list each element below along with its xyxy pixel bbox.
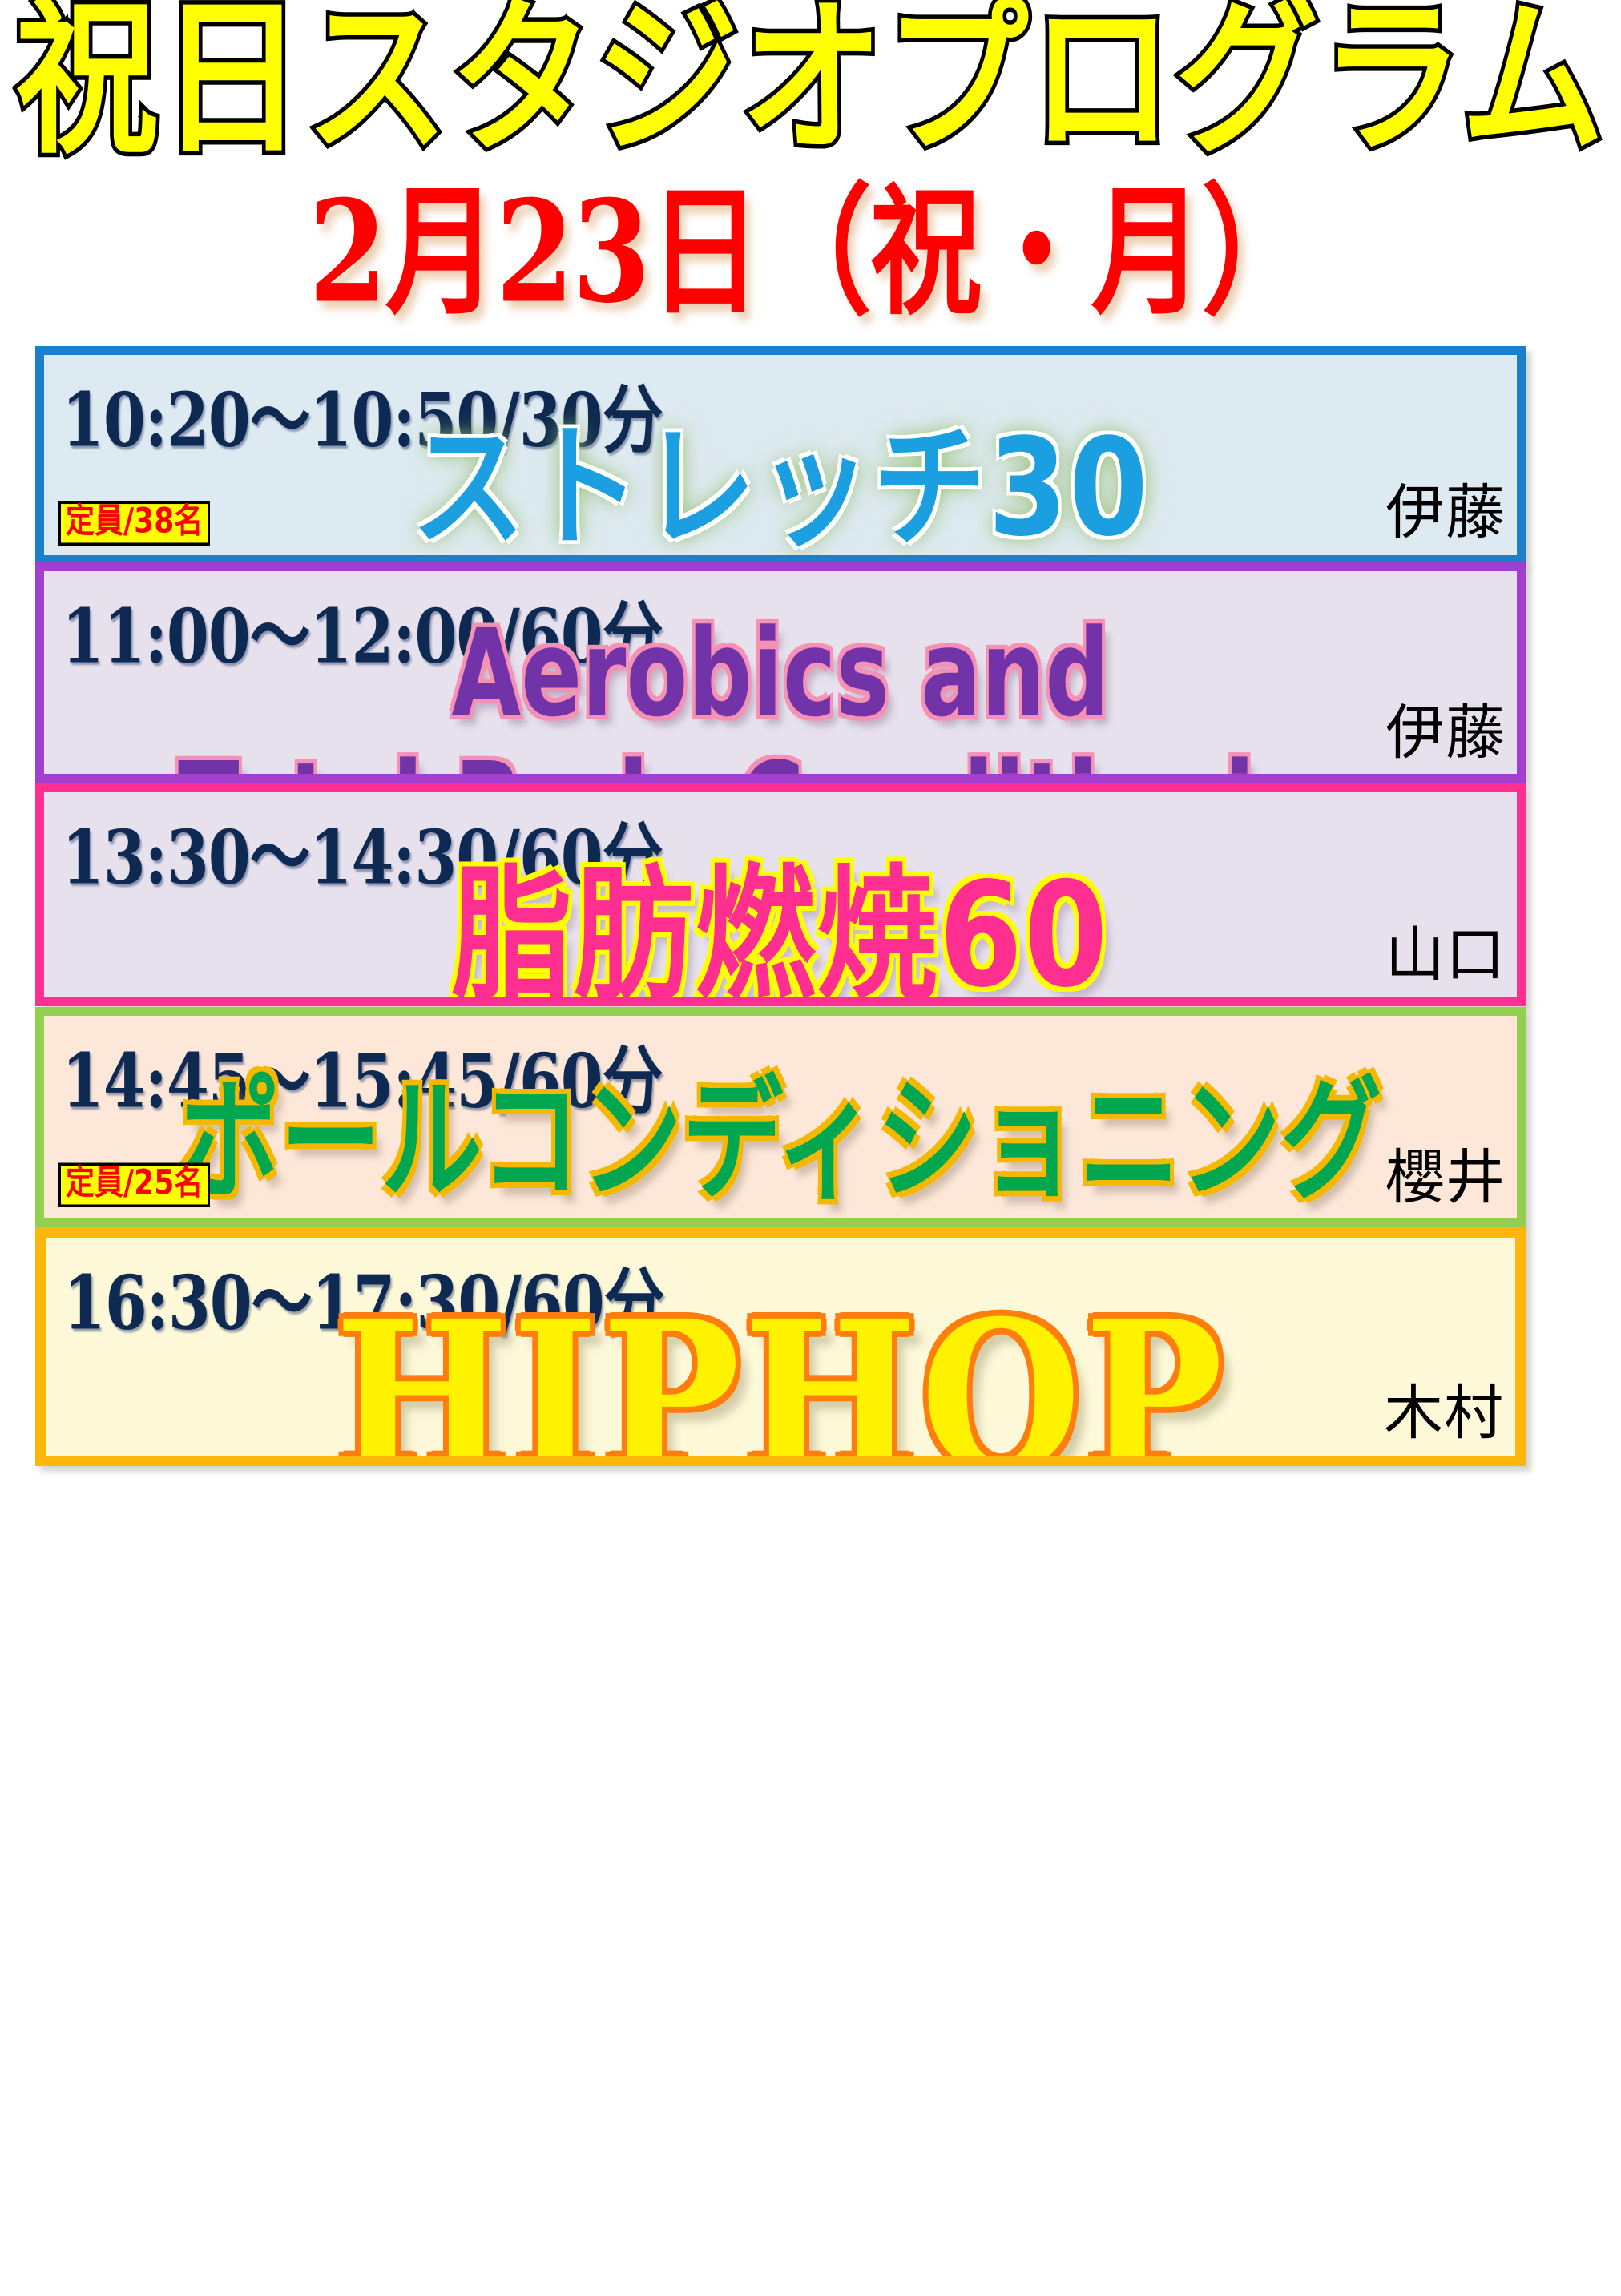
- program-class-name: ポールコンディショニング: [44, 1073, 1517, 1210]
- program-class-name: ストレッチ30: [44, 421, 1517, 558]
- program-class-name-line1: Aerobics and: [452, 604, 1110, 743]
- program-class-name: 脂肪燃焼60: [44, 863, 1517, 1006]
- program-instructor: 伊藤: [1385, 465, 1506, 550]
- program-block-pole-conditioning[interactable]: 14:45～15:45/60分 ポールコンディショニング 定員/25名 櫻井: [35, 1007, 1526, 1227]
- poster-header: 祝日スタジオプログラム 2月23日（祝・月）: [0, 0, 1621, 344]
- program-block-aerobics[interactable]: 11:00～12:00/60分 Aerobics and Total Body …: [35, 562, 1526, 783]
- capacity-badge: 定員/25名: [58, 1163, 210, 1207]
- program-block-stretch30[interactable]: 10:20～10:50/30分 ストレッチ30 定員/38名 伊藤: [35, 346, 1526, 564]
- program-class-name-line2: Total Body Conditioning: [44, 746, 1517, 783]
- program-class-name: HIPHOP: [46, 1292, 1515, 1466]
- poster-date: 2月23日（祝・月）: [0, 183, 1621, 323]
- program-instructor: 伊藤: [1385, 685, 1506, 771]
- program-instructor: 櫻井: [1385, 1130, 1506, 1215]
- capacity-badge: 定員/38名: [58, 501, 210, 546]
- program-class-name: Aerobics and Total Body Conditioning: [44, 613, 1517, 783]
- program-block-fatburn60[interactable]: 13:30～14:30/60分 脂肪燃焼60 山口: [35, 783, 1526, 1006]
- poster-title: 祝日スタジオプログラム: [0, 0, 1621, 163]
- program-instructor: 木村: [1384, 1365, 1504, 1451]
- program-block-hiphop[interactable]: 16:30～17:30/60分 HIPHOP 木村: [35, 1227, 1526, 1466]
- program-instructor: 山口: [1385, 907, 1506, 993]
